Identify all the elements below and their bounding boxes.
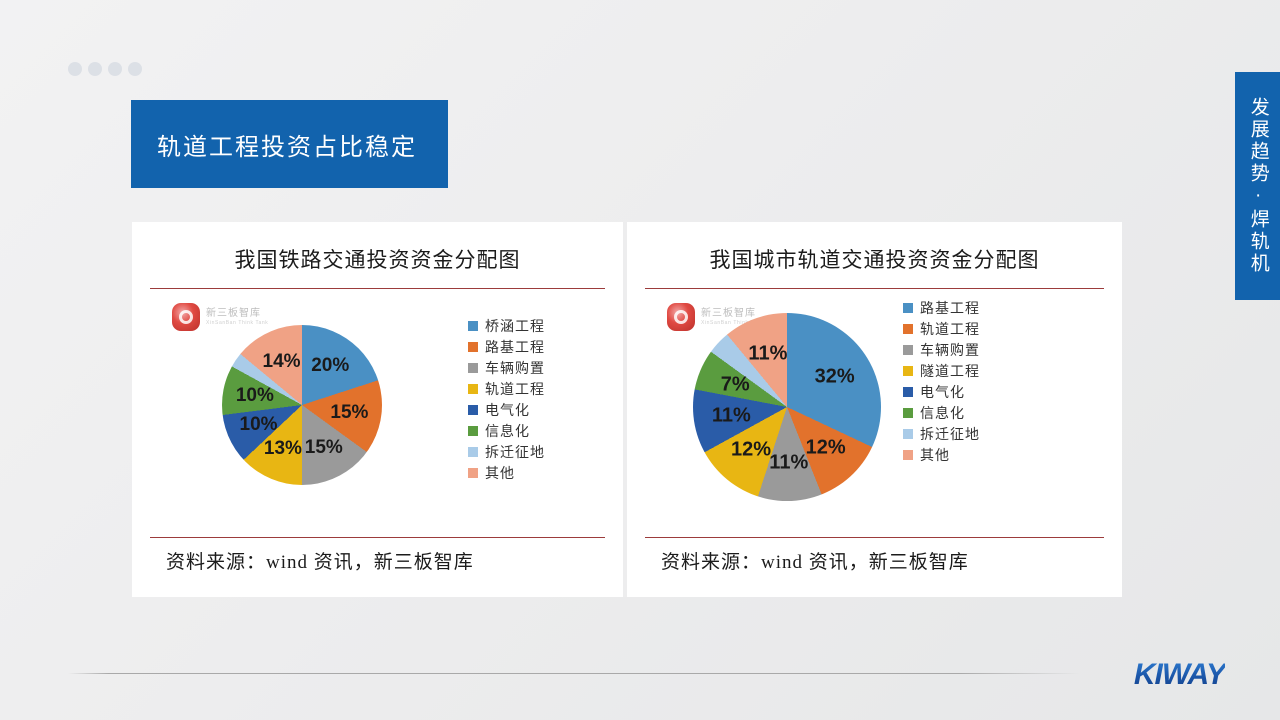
xinsanban-logo-icon	[667, 303, 695, 331]
legend-swatch-icon	[468, 363, 478, 373]
legend-item: 隧道工程	[903, 360, 980, 381]
legend-swatch-icon	[468, 468, 478, 478]
legend-item-label: 信息化	[485, 421, 530, 441]
section-tab-label: 发展趋势·焊轨机	[1246, 97, 1268, 275]
pie-slice-label: 12%	[731, 439, 771, 462]
pie-slice-label: 15%	[305, 437, 343, 459]
legend-swatch-icon	[903, 345, 913, 355]
legend-item: 电气化	[903, 381, 980, 402]
pie-chart-urban-rail: 32%12%11%12%11%7%11%	[693, 313, 881, 501]
pie-slice-label: 11%	[748, 342, 787, 365]
legend-item-label: 拆迁征地	[920, 424, 980, 444]
pie-slice-label: 15%	[330, 402, 368, 424]
legend-item: 信息化	[903, 402, 980, 423]
legend-item: 轨道工程	[468, 378, 545, 399]
legend-item-label: 其他	[485, 463, 515, 483]
pie-slice-label: 13%	[264, 438, 302, 460]
pie-slice-label: 32%	[815, 365, 855, 388]
pie-slice-label: 20%	[311, 355, 349, 377]
section-tab[interactable]: 发展趋势·焊轨机	[1235, 72, 1280, 300]
legend-swatch-icon	[903, 387, 913, 397]
legend-item-label: 电气化	[920, 382, 965, 402]
legend-item-label: 隧道工程	[920, 361, 980, 381]
pie-slice-label: 14%	[263, 351, 301, 373]
pie-slice-label: 10%	[240, 414, 278, 436]
pie-slice-label: 11%	[769, 452, 808, 475]
footer-divider	[68, 673, 1080, 674]
legend-item-label: 信息化	[920, 403, 965, 423]
legend-swatch-icon	[468, 342, 478, 352]
chart-body-right: 新三板智库 XinSanBan Think Tank 32%12%11%12%1…	[645, 289, 1104, 537]
legend-item-label: 轨道工程	[485, 379, 545, 399]
chart-card-railway: 我国铁路交通投资资金分配图 新三板智库 XinSanBan Think Tank…	[132, 222, 627, 597]
source-note-left: 资料来源：wind 资讯，新三板智库	[150, 538, 605, 574]
legend-item: 拆迁征地	[468, 441, 545, 462]
brand-logo: KIWAY	[1134, 658, 1225, 692]
legend-railway: 桥涵工程路基工程车辆购置轨道工程电气化信息化拆迁征地其他	[468, 315, 545, 483]
decorative-dots	[68, 62, 142, 76]
legend-item-label: 车辆购置	[485, 358, 545, 378]
chart-body-left: 新三板智库 XinSanBan Think Tank 20%15%15%13%1…	[150, 289, 605, 537]
pie-slice-label: 7%	[721, 373, 750, 396]
legend-item: 轨道工程	[903, 318, 980, 339]
xinsanban-logo-icon	[172, 303, 200, 331]
legend-item-label: 桥涵工程	[485, 316, 545, 336]
title-banner: 轨道工程投资占比稳定	[131, 100, 448, 188]
pie-slice-label: 12%	[806, 437, 846, 460]
legend-item: 其他	[468, 462, 545, 483]
chart-title-railway: 我国铁路交通投资资金分配图	[150, 222, 605, 274]
legend-item-label: 路基工程	[485, 337, 545, 357]
legend-item-label: 其他	[920, 445, 950, 465]
legend-swatch-icon	[903, 366, 913, 376]
slide-canvas: 轨道工程投资占比稳定 发展趋势·焊轨机 我国铁路交通投资资金分配图 新三板智库 …	[0, 0, 1280, 720]
pie-slice-label: 10%	[236, 385, 274, 407]
legend-item-label: 轨道工程	[920, 319, 980, 339]
legend-swatch-icon	[903, 303, 913, 313]
legend-swatch-icon	[903, 429, 913, 439]
legend-item: 其他	[903, 444, 980, 465]
legend-swatch-icon	[903, 408, 913, 418]
legend-swatch-icon	[903, 324, 913, 334]
legend-swatch-icon	[468, 384, 478, 394]
legend-urban-rail: 路基工程轨道工程车辆购置隧道工程电气化信息化拆迁征地其他	[903, 297, 980, 465]
legend-swatch-icon	[903, 450, 913, 460]
charts-row: 我国铁路交通投资资金分配图 新三板智库 XinSanBan Think Tank…	[132, 222, 1122, 597]
legend-item: 信息化	[468, 420, 545, 441]
chart-card-urban-rail: 我国城市轨道交通投资资金分配图 新三板智库 XinSanBan Think Ta…	[627, 222, 1122, 597]
legend-item: 路基工程	[468, 336, 545, 357]
legend-swatch-icon	[468, 405, 478, 415]
legend-item-label: 车辆购置	[920, 340, 980, 360]
legend-item-label: 电气化	[485, 400, 530, 420]
watermark-cn-text: 新三板智库	[206, 309, 268, 319]
legend-item: 电气化	[468, 399, 545, 420]
chart-image-panel: 我国铁路交通投资资金分配图 新三板智库 XinSanBan Think Tank…	[132, 222, 1122, 597]
page-title: 轨道工程投资占比稳定	[131, 127, 417, 162]
pie-wrap-left: 20%15%15%13%10%10%14%	[222, 325, 382, 485]
legend-swatch-icon	[468, 447, 478, 457]
legend-item: 路基工程	[903, 297, 980, 318]
pie-wrap-right: 32%12%11%12%11%7%11%	[693, 313, 881, 501]
legend-swatch-icon	[468, 426, 478, 436]
legend-item-label: 路基工程	[920, 298, 980, 318]
dot-1	[68, 62, 82, 76]
pie-slice-label: 11%	[712, 404, 751, 427]
legend-item: 拆迁征地	[903, 423, 980, 444]
dot-2	[88, 62, 102, 76]
legend-item-label: 拆迁征地	[485, 442, 545, 462]
source-note-right: 资料来源：wind 资讯，新三板智库	[645, 538, 1104, 574]
chart-title-urban-rail: 我国城市轨道交通投资资金分配图	[645, 222, 1104, 274]
legend-item: 桥涵工程	[468, 315, 545, 336]
dot-3	[108, 62, 122, 76]
legend-item: 车辆购置	[468, 357, 545, 378]
legend-item: 车辆购置	[903, 339, 980, 360]
dot-4	[128, 62, 142, 76]
legend-swatch-icon	[468, 321, 478, 331]
pie-chart-railway: 20%15%15%13%10%10%14%	[222, 325, 382, 485]
